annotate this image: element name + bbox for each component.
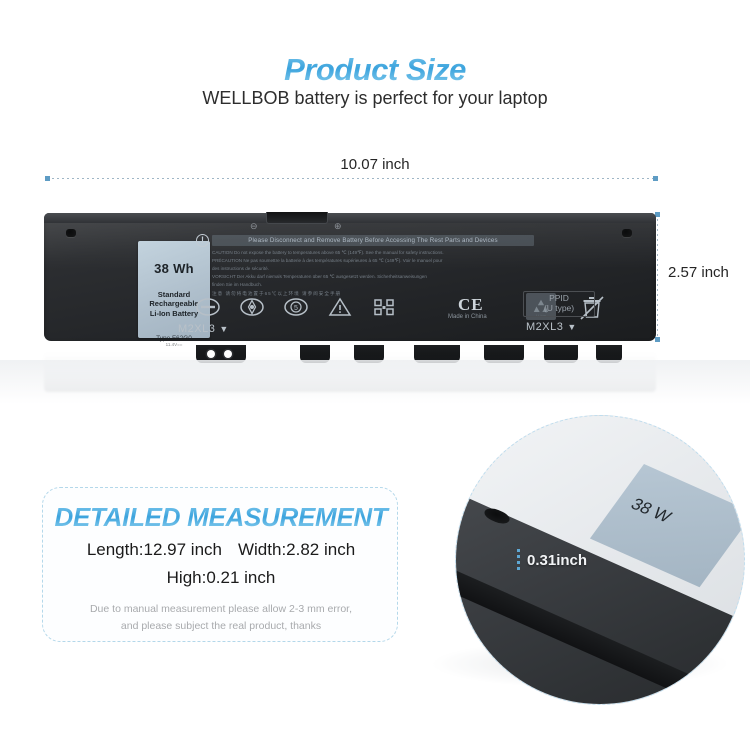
- no-disassemble-icon: [196, 296, 220, 318]
- measurement-high: High:0.21 inch: [167, 568, 276, 587]
- measurement-width: Width:2.82 inch: [238, 540, 355, 559]
- caution-line-en: CAUTION Do not expose the battery to tem…: [212, 249, 542, 256]
- dimension-endpoint-left: [45, 176, 50, 181]
- horizontal-dimension-line: [47, 178, 655, 179]
- battery-connector-notch: [266, 212, 328, 224]
- spec-standard: Standard: [149, 290, 198, 299]
- screw-hole-top-right: [622, 229, 632, 237]
- screw-hole-top-left: [66, 229, 76, 237]
- slab-sticker-text: 38 W: [627, 495, 675, 527]
- model-code-right-text: M2XL3: [526, 321, 563, 333]
- length-dimension-label: 10.07 inch: [0, 156, 750, 173]
- warning-triangle-icon: [328, 296, 352, 318]
- vertical-dimension-line: [657, 214, 658, 339]
- caution-line-de-1: VORSICHT Der Akku darf niemals Temperatu…: [212, 273, 542, 280]
- polarity-negative-icon: ⊖: [250, 221, 258, 232]
- caution-banner-text: Please Disconnect and Remove Battery Bef…: [212, 235, 534, 246]
- handling-marks-icon: [372, 296, 396, 318]
- battery-top-bevel: [44, 213, 656, 223]
- no-puncture-icon: [240, 296, 264, 318]
- made-in-label: Made in China: [448, 314, 487, 320]
- page-subtitle: WELLBOB battery is perfect for your lapt…: [0, 88, 750, 109]
- detailed-measurement-panel: DETAILED MEASUREMENT Length:12.97 inchWi…: [42, 487, 398, 642]
- thickness-dimension-line: [517, 549, 520, 573]
- exclamation-icon: !: [196, 234, 209, 247]
- dimension-endpoint-right: [653, 176, 658, 181]
- measurement-length: Length:12.97 inch: [87, 540, 222, 559]
- infographic-canvas: Product Size WELLBOB battery is perfect …: [0, 0, 750, 750]
- model-code-left-text: M2XL3: [178, 323, 215, 335]
- caution-line-de-2: finden Sie im Handbuch.: [212, 281, 542, 288]
- measurement-disclaimer: Due to manual measurement please allow 2…: [43, 601, 399, 636]
- measurement-row-length-width: Length:12.97 inchWidth:2.82 inch: [43, 540, 399, 560]
- spec-type: Type F62G0: [156, 335, 192, 342]
- battery-product-image: 38 Wh Standard Rechargeable Li-Ion Batte…: [44, 205, 656, 345]
- caution-multilingual-text: CAUTION Do not expose the battery to tem…: [212, 249, 542, 298]
- thickness-label: 0.31inch: [527, 552, 587, 569]
- svg-text:5: 5: [294, 305, 298, 312]
- model-code-left: M2XL3▼: [178, 323, 229, 335]
- magnifier-inset: 38 W: [455, 415, 745, 705]
- caution-line-fr-1: PRÉCAUTION Ne pas soumettre la batterie …: [212, 257, 542, 264]
- eco-5-year-icon: 5: [284, 296, 308, 318]
- page-title: Product Size: [0, 52, 750, 88]
- caution-banner: Please Disconnect and Remove Battery Bef…: [212, 235, 534, 246]
- polarity-positive-icon: ⊕: [334, 221, 342, 232]
- triangle-marker-right-icon: ▼: [567, 322, 576, 332]
- measurement-panel-title: DETAILED MEASUREMENT: [43, 502, 399, 533]
- model-code-right: M2XL3▼: [526, 321, 577, 333]
- caution-line-fr-2: des instructions de sécurité.: [212, 265, 542, 272]
- watt-hour-value: 38 Wh: [154, 261, 194, 276]
- ce-mark-icon: CE: [458, 295, 484, 315]
- disclaimer-line-1: Due to manual measurement please allow 2…: [43, 601, 399, 618]
- triangle-marker-left-icon: ▼: [219, 324, 228, 334]
- measurement-row-high: High:0.21 inch: [43, 568, 399, 588]
- ppid-type: (U type): [544, 304, 574, 314]
- ppid-box: PPID (U type): [523, 291, 595, 317]
- magnifier-content: 38 W: [456, 416, 744, 704]
- height-dimension-label: 2.57 inch: [668, 264, 729, 281]
- disclaimer-line-2: and please subject the real product, tha…: [43, 618, 399, 635]
- battery-body: 38 Wh Standard Rechargeable Li-Ion Batte…: [44, 213, 656, 341]
- spec-rechargeable: Rechargeable: [149, 299, 198, 308]
- spec-type-sub: 11.4V==: [166, 342, 183, 347]
- floor-gradient: [0, 360, 750, 404]
- spec-chemistry: Li-Ion Battery: [149, 309, 198, 318]
